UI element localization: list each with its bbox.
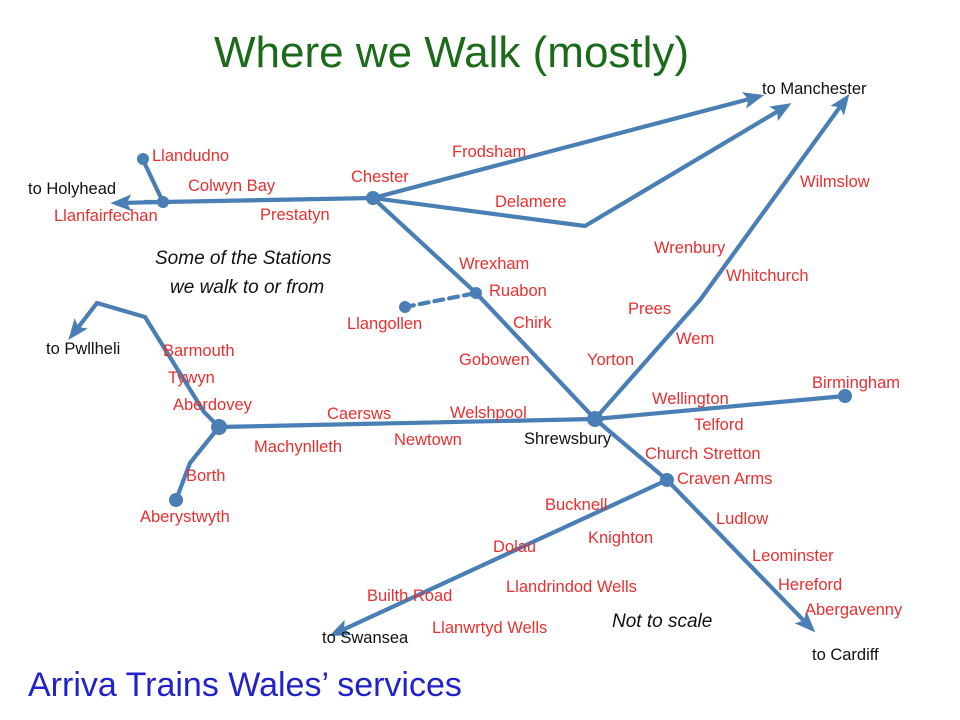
- delamere: Delamere: [495, 194, 567, 211]
- wrexham: Wrexham: [459, 256, 529, 273]
- machynlleth: Machynlleth: [254, 439, 342, 456]
- dolau: Dolau: [493, 539, 536, 556]
- llandrindod-wells: Llandrindod Wells: [506, 579, 637, 596]
- to-manchester: to Manchester: [762, 81, 867, 98]
- ruabon-junction[interactable]: [470, 287, 482, 299]
- wellington: Wellington: [652, 391, 729, 408]
- note-0: Some of the Stations: [155, 249, 331, 268]
- to-swansea: to Swansea: [322, 630, 408, 647]
- chester-junction[interactable]: [366, 191, 380, 205]
- hereford: Hereford: [778, 577, 842, 594]
- note-1: we walk to or from: [170, 278, 324, 297]
- cambrian-main-line: [219, 419, 595, 427]
- craven-arms-junction[interactable]: [660, 473, 674, 487]
- north-wales-coast-line: [145, 198, 373, 202]
- builth-road: Builth Road: [367, 588, 452, 605]
- wilmslow: Wilmslow: [800, 174, 870, 191]
- llandudno: Llandudno: [152, 148, 229, 165]
- aberdovey: Aberdovey: [173, 397, 252, 414]
- welshpool: Welshpool: [450, 405, 527, 422]
- caersws: Caersws: [327, 406, 391, 423]
- aberystwyth: Aberystwyth: [140, 509, 230, 526]
- llanwrtyd-wells: Llanwrtyd Wells: [432, 620, 547, 637]
- llangollen: Llangollen: [347, 316, 422, 333]
- delamere-manchester-line: [373, 107, 785, 226]
- llandudno-branch: [143, 160, 163, 202]
- yorton: Yorton: [587, 352, 634, 369]
- prees: Prees: [628, 301, 671, 318]
- frodsham-manchester-line: [373, 97, 757, 198]
- ruabon: Ruabon: [489, 283, 547, 300]
- whitchurch: Whitchurch: [726, 268, 809, 285]
- borth: Borth: [186, 468, 225, 485]
- telford: Telford: [694, 417, 744, 434]
- colwyn-bay: Colwyn Bay: [188, 178, 275, 195]
- craven-arms: Craven Arms: [677, 471, 772, 488]
- to-holyhead: to Holyhead: [28, 181, 116, 198]
- church-stretton: Church Stretton: [645, 446, 761, 463]
- llandudno-terminus[interactable]: [137, 153, 149, 165]
- tywyn: Tywyn: [168, 370, 215, 387]
- birmingham: Birmingham: [812, 375, 900, 392]
- bucknell: Bucknell: [545, 497, 607, 514]
- footer-caption: Arriva Trains Wales’ services: [28, 666, 462, 705]
- to-pwllheli: to Pwllheli: [46, 341, 120, 358]
- barmouth: Barmouth: [163, 343, 235, 360]
- llanfairfechan: Llanfairfechan: [54, 208, 158, 225]
- aberystwyth-terminus[interactable]: [169, 493, 183, 507]
- chester: Chester: [351, 169, 409, 186]
- pwllheli-arrow-line: [73, 303, 97, 334]
- chirk: Chirk: [513, 315, 552, 332]
- llangollen-branch: [405, 293, 476, 307]
- holyhead-arrow-line: [118, 202, 163, 203]
- wem: Wem: [676, 331, 714, 348]
- knighton: Knighton: [588, 530, 653, 547]
- machynlleth-junction[interactable]: [211, 419, 227, 435]
- to-cardiff: to Cardiff: [812, 647, 879, 664]
- Shrewsbury: Shrewsbury: [524, 431, 611, 448]
- note-2: Not to scale: [612, 612, 712, 631]
- leominster: Leominster: [752, 548, 834, 565]
- newtown: Newtown: [394, 432, 462, 449]
- page-title: Where we Walk (mostly): [214, 28, 689, 78]
- llandudno-junction[interactable]: [157, 196, 169, 208]
- railway-map: Where we Walk (mostly) Arriva Trains Wal…: [0, 0, 960, 720]
- shrewsbury-junction[interactable]: [587, 411, 603, 427]
- ludlow: Ludlow: [716, 511, 768, 528]
- wrenbury: Wrenbury: [654, 240, 725, 257]
- abergavenny: Abergavenny: [805, 602, 902, 619]
- gobowen: Gobowen: [459, 352, 530, 369]
- llangollen-terminus[interactable]: [399, 301, 411, 313]
- frodsham: Frodsham: [452, 144, 526, 161]
- prestatyn: Prestatyn: [260, 207, 330, 224]
- aberystwyth-branch: [176, 427, 219, 500]
